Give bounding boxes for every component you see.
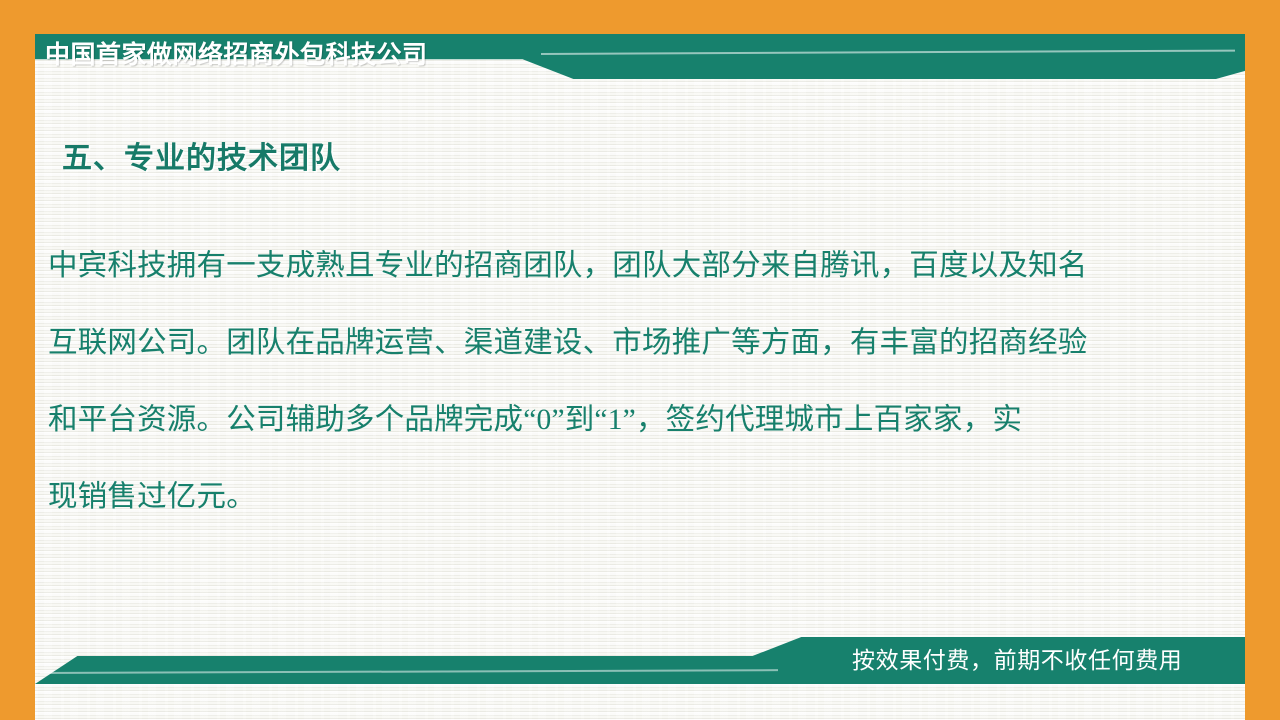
paragraph-line: 和平台资源。公司辅助多个品牌完成“0”到“1”，签约代理城市上百家家，实 [48, 382, 1188, 459]
footer-tagline: 按效果付费，前期不收任何费用 [852, 643, 1182, 677]
presentation-slide: 中国首家做网络招商外包科技公司 五、专业的技术团队 中宾科技拥有一支成熟且专业的… [0, 0, 1280, 720]
paragraph-line: 现销售过亿元。 [48, 459, 1188, 536]
body-paragraph: 中宾科技拥有一支成熟且专业的招商团队，团队大部分来自腾讯，百度以及知名 互联网公… [48, 228, 1188, 536]
section-heading: 五、专业的技术团队 [62, 133, 341, 177]
paragraph-line: 中宾科技拥有一支成熟且专业的招商团队，团队大部分来自腾讯，百度以及知名 [48, 228, 1188, 305]
paragraph-line: 互联网公司。团队在品牌运营、渠道建设、市场推广等方面，有丰富的招商经验 [48, 305, 1188, 382]
header-title: 中国首家做网络招商外包科技公司 [45, 36, 428, 74]
